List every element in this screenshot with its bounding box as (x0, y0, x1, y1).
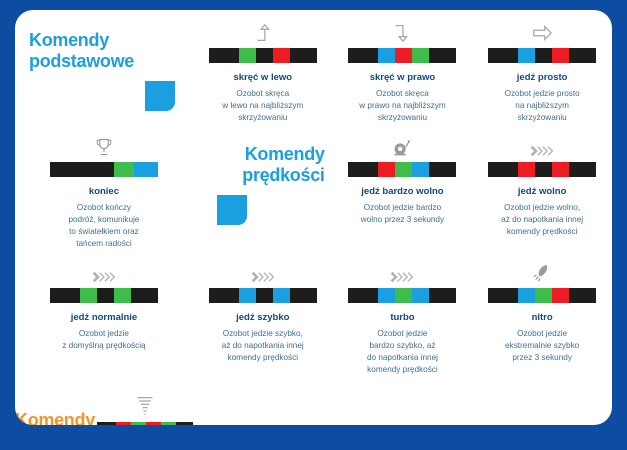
command-turn-right[interactable]: skręć w prawo Ozobot skręca w prawo na n… (333, 10, 473, 124)
arrow-straight-icon (530, 18, 554, 44)
code-segment (50, 288, 80, 303)
code-segment (273, 48, 290, 63)
code-segment (552, 288, 569, 303)
command-name: jedź bardzo wolno (361, 186, 443, 197)
code-segment (146, 422, 161, 425)
code-bar (348, 288, 456, 303)
section-heading-special: Komendyspecjalne (15, 384, 97, 425)
code-segment (290, 48, 317, 63)
command-name: jedź wolno (518, 186, 567, 197)
code-segment (348, 48, 378, 63)
code-segment (239, 288, 256, 303)
chevrons-icon (529, 132, 555, 158)
code-segment (256, 48, 273, 63)
command-description: Ozobot jedzie prosto na najbliższym skrz… (505, 88, 580, 124)
command-nitro[interactable]: nitro Ozobot jedzie ekstremalnie szybko … (472, 250, 612, 376)
section-heading-basic: Komendypodstawowe (15, 10, 193, 124)
command-description: Ozobot kończy podróż, komunikuje to świa… (68, 202, 139, 250)
code-segment (488, 288, 518, 303)
code-segment (429, 288, 456, 303)
code-segment (239, 48, 256, 63)
command-turbo[interactable]: turbo Ozobot jedzie bardzo szybko, aż do… (333, 250, 473, 376)
command-name: jedź szybko (236, 312, 289, 323)
code-segment (412, 162, 429, 177)
snail-icon (390, 132, 414, 158)
code-segment (552, 48, 569, 63)
code-segment (552, 162, 569, 177)
code-segment (535, 162, 552, 177)
code-bar (348, 48, 456, 63)
command-end[interactable]: koniec Ozobot kończy podróż, komunikuje … (15, 124, 193, 250)
code-segment (429, 162, 456, 177)
code-segment (378, 288, 395, 303)
code-bar (488, 162, 596, 177)
chevrons-icon (91, 258, 117, 284)
code-segment (97, 422, 116, 425)
section-swatch-speed (217, 195, 247, 225)
code-segment (518, 48, 535, 63)
command-normal[interactable]: jedź normalnie Ozobot jedzie z domyślną … (15, 250, 193, 376)
command-tornado[interactable]: tornado Ozobot kręci się z coraz większą… (97, 384, 193, 425)
command-go-straight[interactable]: jedź prosto Ozobot jedzie prosto na najb… (472, 10, 612, 124)
command-description: Ozobot jedzie szybko, aż do napotkania i… (222, 328, 304, 364)
command-description: Ozobot skręca w lewo na najbliższym skrz… (222, 88, 303, 124)
code-segment (535, 48, 552, 63)
command-description: Ozobot jedzie wolno, aż do napotkania in… (501, 202, 583, 238)
arrow-turn-right-icon (391, 18, 413, 44)
code-bar (209, 288, 317, 303)
code-segment (97, 288, 114, 303)
code-segment (116, 422, 131, 425)
code-segment (161, 422, 176, 425)
code-segment (176, 422, 193, 425)
command-description: Ozobot jedzie bardzo szybko, aż do napot… (367, 328, 438, 376)
code-segment (114, 162, 134, 177)
code-segment (378, 162, 395, 177)
section-heading-speed-label: Komendyprędkości (242, 144, 324, 185)
code-segment (348, 162, 378, 177)
code-segment (209, 48, 239, 63)
code-bar (209, 48, 317, 63)
code-bar (488, 48, 596, 63)
command-description: Ozobot skręca w prawo na najbliższym skr… (359, 88, 445, 124)
rocket-icon (530, 258, 554, 284)
code-segment (429, 48, 456, 63)
code-segment (569, 162, 596, 177)
command-slow[interactable]: jedź wolno Ozobot jedzie wolno, aż do na… (472, 124, 612, 250)
code-segment (273, 288, 290, 303)
code-segment (395, 48, 412, 63)
chevrons-icon (250, 258, 276, 284)
code-segment (518, 288, 535, 303)
code-segment (209, 288, 239, 303)
code-segment (488, 48, 518, 63)
arrow-turn-left-icon (252, 18, 274, 44)
code-segment (535, 288, 552, 303)
command-fast[interactable]: jedź szybko Ozobot jedzie szybko, aż do … (193, 250, 333, 376)
command-grid: Komendypodstawowe skręć w lewo Ozobot sk… (15, 10, 612, 425)
code-bar (50, 288, 158, 303)
code-segment (412, 288, 429, 303)
trophy-icon (94, 132, 114, 158)
section-swatch-basic (145, 81, 175, 111)
code-bar (97, 422, 193, 425)
tornado-icon (135, 392, 155, 418)
code-segment (412, 48, 429, 63)
code-bar (488, 288, 596, 303)
command-description: Ozobot jedzie bardzo wolno przez 3 sekun… (361, 202, 444, 226)
command-name: turbo (390, 312, 414, 323)
command-name: jedź prosto (517, 72, 568, 83)
code-segment (131, 288, 158, 303)
poster-card: Komendypodstawowe skręć w lewo Ozobot sk… (15, 10, 612, 425)
code-segment (256, 288, 273, 303)
command-name: nitro (532, 312, 553, 323)
code-segment (134, 162, 158, 177)
section-heading-basic-label: Komendypodstawowe (29, 30, 134, 71)
command-description: Ozobot jedzie z domyślną prędkością (62, 328, 145, 352)
code-segment (114, 288, 131, 303)
code-segment (348, 288, 378, 303)
chevrons-icon (389, 258, 415, 284)
command-very-slow[interactable]: jedź bardzo wolno Ozobot jedzie bardzo w… (333, 124, 473, 250)
code-segment (80, 288, 97, 303)
code-segment (518, 162, 535, 177)
code-segment (131, 422, 146, 425)
section-and-command-special: Komendyspecjalne tornado Ozobot kręci si… (15, 376, 193, 425)
command-description: Ozobot jedzie ekstremalnie szybko przez … (505, 328, 579, 364)
code-segment (290, 288, 317, 303)
command-name: koniec (89, 186, 119, 197)
code-bar (348, 162, 456, 177)
section-heading-special-label: Komendyspecjalne (15, 410, 95, 425)
command-name: skręć w prawo (370, 72, 435, 83)
code-segment (378, 48, 395, 63)
code-segment (569, 48, 596, 63)
code-segment (488, 162, 518, 177)
section-heading-speed: Komendyprędkości (193, 124, 333, 250)
code-bar (50, 162, 158, 177)
command-turn-left[interactable]: skręć w lewo Ozobot skręca w lewo na naj… (193, 10, 333, 124)
command-name: skręć w lewo (233, 72, 292, 83)
code-segment (50, 162, 114, 177)
code-segment (569, 288, 596, 303)
command-name: jedź normalnie (71, 312, 138, 323)
code-segment (395, 288, 412, 303)
code-segment (395, 162, 412, 177)
